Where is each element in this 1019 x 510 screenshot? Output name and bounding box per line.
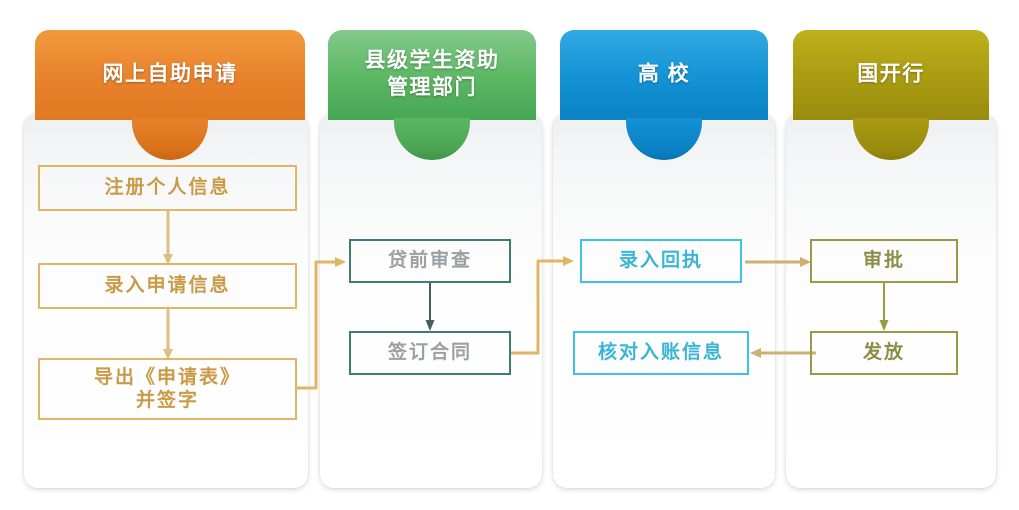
step-box-verify-deposit[interactable]: 核对入账信息 bbox=[573, 331, 749, 375]
step-box-approval[interactable]: 审批 bbox=[810, 239, 958, 283]
step-box-disbursement[interactable]: 发放 bbox=[810, 331, 958, 375]
column-header-county-aid-dept: 县级学生资助 管理部门 bbox=[328, 30, 536, 120]
panel-inner-3 bbox=[553, 113, 775, 488]
column-header-label-2: 县级学生资助 管理部门 bbox=[328, 48, 536, 102]
column-header-cdb: 国开行 bbox=[793, 30, 989, 120]
column-header-label-1: 网上自助申请 bbox=[35, 62, 305, 89]
column-header-university: 高 校 bbox=[560, 30, 768, 120]
flowchart-canvas: 网上自助申请 注册个人信息 录入申请信息 导出《申请表》 并签字 县级学生资助 … bbox=[0, 0, 1019, 510]
column-panel-county-aid-dept bbox=[320, 113, 542, 488]
panel-inner-4 bbox=[786, 113, 996, 488]
column-panel-cdb bbox=[786, 113, 996, 488]
step-box-sign-contract[interactable]: 签订合同 bbox=[349, 331, 511, 375]
column-header-label-4: 国开行 bbox=[793, 62, 989, 89]
column-header-online-application: 网上自助申请 bbox=[35, 30, 305, 120]
panel-inner-2 bbox=[320, 113, 542, 488]
step-box-pre-loan-review[interactable]: 贷前审查 bbox=[349, 239, 511, 283]
column-header-label-3: 高 校 bbox=[560, 62, 768, 89]
step-box-enter-application[interactable]: 录入申请信息 bbox=[38, 263, 297, 309]
step-box-register[interactable]: 注册个人信息 bbox=[38, 165, 297, 211]
step-box-enter-receipt[interactable]: 录入回执 bbox=[580, 239, 742, 283]
step-box-export-sign[interactable]: 导出《申请表》 并签字 bbox=[38, 358, 297, 420]
column-panel-university bbox=[553, 113, 775, 488]
